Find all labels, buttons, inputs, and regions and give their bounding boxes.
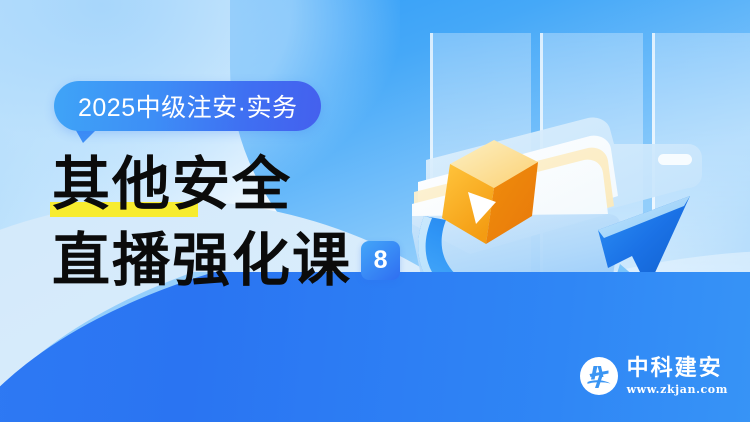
brand-url: www.zkjan.com [627,384,728,395]
headline-line-2: 直播强化课 [52,227,352,293]
badge-pill-label: 2025中级注安·实务 [78,88,297,124]
brand-logo-text: 中科建安 www.zkjan.com [627,357,728,395]
course-banner: 2025中级注安·实务 其他安全 直播强化课 8 中科建安 [0,0,750,422]
headline: 其他安全 直播强化课 8 [52,146,452,298]
episode-number-badge: 8 [361,241,400,280]
headline-line-1-row: 其他安全 [52,146,452,222]
brand-logo: 中科建安 www.zkjan.com [580,357,728,395]
zkjan-monogram-icon [580,357,618,395]
headline-line-2-row: 直播强化课 8 [52,222,452,298]
badge-pill: 2025中级注安·实务 [54,81,321,131]
episode-number-label: 8 [374,248,388,273]
headline-line-1: 其他安全 [52,151,292,217]
brand-name: 中科建安 [627,357,728,379]
